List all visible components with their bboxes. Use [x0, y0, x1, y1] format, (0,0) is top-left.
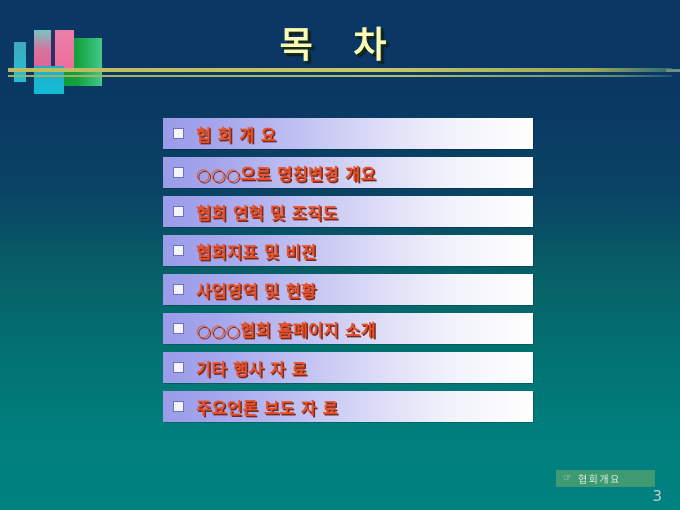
toc-item-label: ○○○협회 홈페이지 소개	[196, 317, 376, 341]
rule-line-primary	[8, 68, 672, 72]
slide-title: 목 차	[0, 24, 680, 68]
toc-item[interactable]: 사업영역 및 현황	[163, 274, 533, 305]
page-number: 3	[640, 487, 662, 505]
square-bullet-icon	[173, 284, 184, 295]
toc-item-label: 협회지표 및 비젼	[196, 239, 316, 263]
footer-badge-label: 협회개요	[578, 471, 621, 486]
square-bullet-icon	[173, 323, 184, 334]
title-underline-rule	[0, 68, 680, 80]
toc-item-label: 주요언론 보도 자 료	[196, 395, 338, 419]
square-bullet-icon	[173, 167, 184, 178]
square-bullet-icon	[173, 206, 184, 217]
square-bullet-icon	[173, 128, 184, 139]
square-bullet-icon	[173, 245, 184, 256]
toc-item-label: 사업영역 및 현황	[196, 278, 316, 302]
toc-item[interactable]: 협회지표 및 비젼	[163, 235, 533, 266]
toc-item[interactable]: 기타 행사 자 료	[163, 352, 533, 383]
toc-item-label: 기타 행사 자 료	[196, 356, 307, 380]
toc-item-label: ○○○으로 명칭변경 개요	[196, 161, 376, 185]
pointing-hand-icon: ☞	[563, 474, 572, 484]
square-bullet-icon	[173, 401, 184, 412]
toc-item-label: 협회 연혁 및 조직도	[196, 200, 338, 224]
rule-end-tip	[666, 69, 680, 72]
table-of-contents-list: 협 회 개 요 ○○○으로 명칭변경 개요 협회 연혁 및 조직도 협회지표 및…	[163, 118, 533, 430]
toc-item[interactable]: 협 회 개 요	[163, 118, 533, 149]
toc-item-label: 협 회 개 요	[196, 122, 276, 146]
toc-item[interactable]: 주요언론 보도 자 료	[163, 391, 533, 422]
toc-item[interactable]: 협회 연혁 및 조직도	[163, 196, 533, 227]
toc-item[interactable]: ○○○으로 명칭변경 개요	[163, 157, 533, 188]
square-bullet-icon	[173, 362, 184, 373]
rule-line-secondary	[8, 75, 672, 77]
footer-section-badge[interactable]: ☞ 협회개요	[556, 470, 655, 487]
toc-item[interactable]: ○○○협회 홈페이지 소개	[163, 313, 533, 344]
presentation-slide: 목 차 협 회 개 요 ○○○으로 명칭변경 개요 협회 연혁 및 조직도 협회…	[0, 0, 680, 510]
